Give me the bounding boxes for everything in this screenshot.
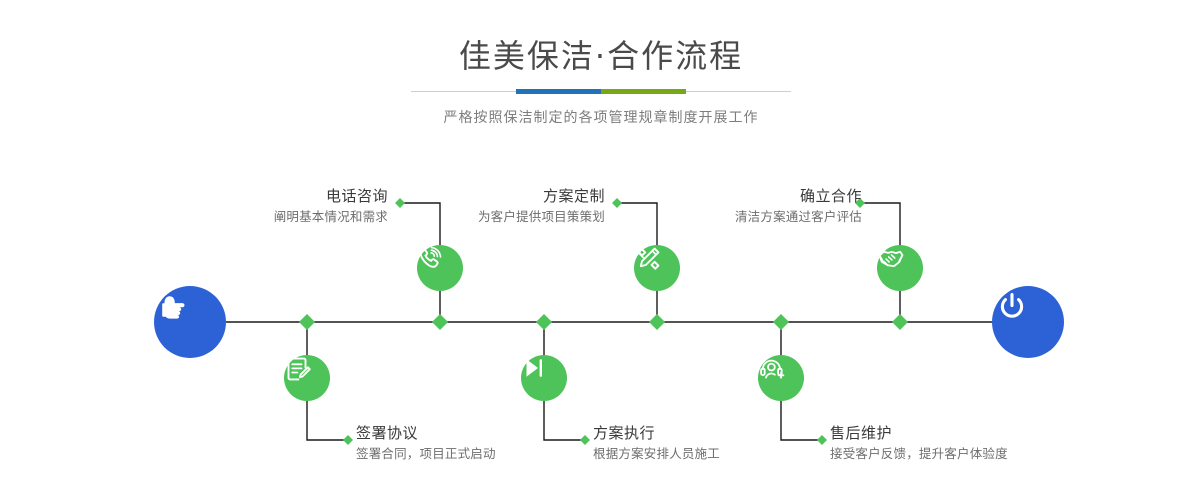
step-label-2: 签署协议 签署合同，项目正式启动 [356,424,496,463]
phone-call-icon [417,245,445,273]
handshake-icon [877,245,905,273]
diamond-marker-label-1 [395,198,405,208]
step-label-1: 电话咨询 阐明基本情况和需求 [274,187,388,226]
diamond-marker-axis-4 [649,314,665,330]
step-desc-3: 为客户提供项目策策划 [478,205,605,226]
diamond-marker-label-6 [817,435,827,445]
step-node-5[interactable] [877,245,923,291]
play-execute-icon [521,355,547,381]
diamond-marker-axis-1 [299,314,315,330]
step-desc-4: 根据方案安排人员施工 [593,442,720,463]
step-node-3[interactable] [634,245,680,291]
flow-start-node[interactable] [154,286,226,358]
diamond-marker-axis-5 [773,314,789,330]
diamond-marker-axis-6 [892,314,908,330]
step-label-4: 方案执行 根据方案安排人员施工 [593,424,720,463]
diamond-marker-axis-2 [432,314,448,330]
connector-step-5-elbow [864,203,900,245]
step-desc-2: 签署合同，项目正式启动 [356,442,496,463]
step-node-4[interactable] [521,355,567,401]
step-node-6[interactable] [758,355,804,401]
pointing-hand-icon [154,286,194,326]
step-title-6: 售后维护 [830,424,1008,442]
step-node-2[interactable] [284,355,330,401]
step-title-5: 确立合作 [735,187,862,205]
step-desc-1: 阐明基本情况和需求 [274,205,388,226]
step-node-1[interactable] [417,245,463,291]
connector-step-3-elbow [621,203,657,245]
connector-step-4-elbow [544,400,581,440]
connector-step-6-elbow [781,400,818,440]
step-title-2: 签署协议 [356,424,496,442]
flow-end-node[interactable] [992,286,1064,358]
step-label-6: 售后维护 接受客户反馈，提升客户体验度 [830,424,1008,463]
document-edit-icon [284,355,312,383]
power-icon [992,286,1032,326]
step-desc-6: 接受客户反馈，提升客户体验度 [830,442,1008,463]
diamond-marker-label-3 [612,198,622,208]
step-title-3: 方案定制 [478,187,605,205]
step-desc-5: 清洁方案通过客户评估 [735,205,862,226]
pencil-ruler-icon [634,245,662,273]
diamond-marker-label-4 [580,435,590,445]
process-flow-diagram: 电话咨询 阐明基本情况和需求 签署协议 签署合同，项目正式启动 方案定制 为客户… [0,0,1202,502]
step-label-5: 确立合作 清洁方案通过客户评估 [735,187,862,226]
step-title-4: 方案执行 [593,424,720,442]
connector-step-1-elbow [404,203,440,245]
headset-support-icon [758,355,786,383]
diamond-marker-axis-3 [536,314,552,330]
diamond-marker-label-2 [343,435,353,445]
connector-step-2-elbow [307,400,344,440]
step-label-3: 方案定制 为客户提供项目策策划 [478,187,605,226]
step-title-1: 电话咨询 [274,187,388,205]
